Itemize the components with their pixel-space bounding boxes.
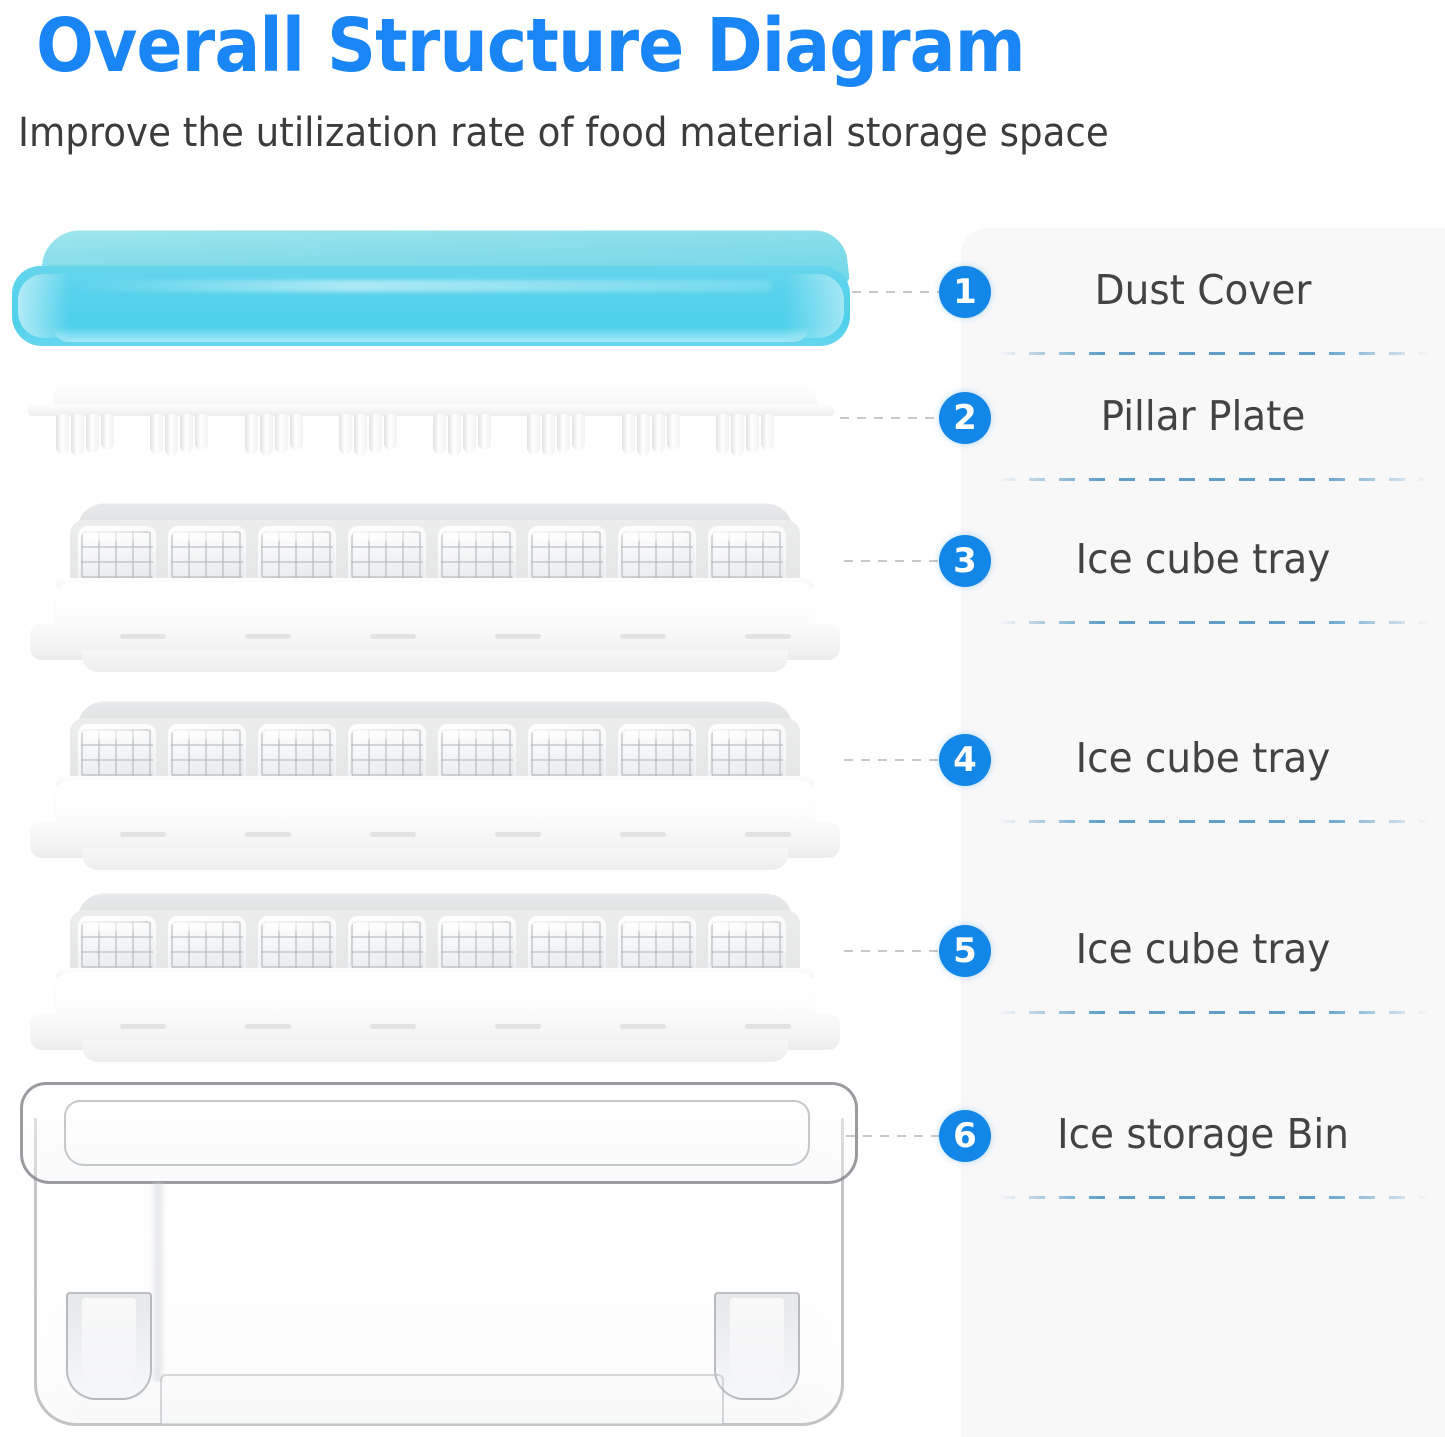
tray-base-notch <box>495 832 541 837</box>
product-exploded-view <box>0 0 961 1437</box>
pillar <box>339 414 352 454</box>
pillar <box>165 414 178 456</box>
dust-cover-front-face <box>12 266 850 346</box>
dust-cover-sheen <box>72 280 772 292</box>
tray-base-notch <box>495 634 541 639</box>
ice-cube-cluster <box>258 724 336 782</box>
leader-line-6 <box>846 1135 954 1137</box>
number-badge-4-icon[interactable]: 4 <box>939 734 991 786</box>
tray-base-notch <box>495 1024 541 1029</box>
bin-grip-right <box>714 1292 800 1400</box>
dust-cover-part <box>12 228 850 348</box>
pillar-group <box>337 414 405 456</box>
pillar-group <box>620 414 688 456</box>
ice-cube-cluster <box>78 724 156 782</box>
leader-line-5 <box>844 950 954 952</box>
ice-cube-cluster <box>708 916 786 974</box>
tray-base-notch <box>370 1024 416 1029</box>
ice-cube-cluster <box>168 916 246 974</box>
tray-base-notch <box>620 832 666 837</box>
bin-floor <box>160 1374 724 1424</box>
pillar-group <box>525 414 593 456</box>
ice-cube-cluster <box>168 724 246 782</box>
legend-label-1: Dust Cover <box>973 266 1433 314</box>
ice-cube-cluster <box>258 526 336 584</box>
legend-divider-1 <box>999 352 1429 355</box>
tray-base-notch <box>745 1024 791 1029</box>
pillar <box>448 414 461 456</box>
legend-label-6: Ice storage Bin <box>973 1110 1433 1158</box>
pillar <box>56 414 69 454</box>
ice-cube-cluster <box>618 526 696 584</box>
pillar <box>260 414 273 456</box>
tray-foot <box>82 650 788 672</box>
pillar <box>290 414 303 450</box>
pillar <box>761 414 774 450</box>
ice-cube-cluster <box>708 526 786 584</box>
pillar <box>101 414 114 450</box>
pillar <box>384 414 397 450</box>
legend-label-2: Pillar Plate <box>973 392 1433 440</box>
ice-cube-cluster <box>438 526 516 584</box>
ice-cube-cluster <box>348 724 426 782</box>
pillar <box>71 414 84 456</box>
dust-cover-right-highlight <box>784 274 844 338</box>
tray-base-notch <box>245 634 291 639</box>
ice-cube-cluster <box>528 916 606 974</box>
pillar <box>245 414 258 454</box>
pillar-group <box>714 414 782 456</box>
tray-base-notch <box>745 634 791 639</box>
ice-cube-cluster <box>258 916 336 974</box>
pillar-group <box>148 414 216 456</box>
tray-base-notch <box>370 832 416 837</box>
ice-cube-cluster <box>78 526 156 584</box>
legend-divider-2 <box>999 478 1429 481</box>
ice-cube-tray-part-2 <box>30 696 840 871</box>
pillar <box>652 414 665 453</box>
tray-cavity <box>70 910 800 976</box>
ice-cube-cluster <box>348 916 426 974</box>
tray-cavity <box>70 520 800 586</box>
leader-line-2 <box>840 417 954 419</box>
tray-foot <box>82 1040 788 1062</box>
ice-cube-cluster <box>708 724 786 782</box>
pillar-group <box>243 414 311 456</box>
pillar <box>731 414 744 456</box>
leader-line-3 <box>844 560 954 562</box>
legend-label-3: Ice cube tray <box>973 535 1433 583</box>
ice-cube-cluster <box>348 526 426 584</box>
ice-cube-cluster <box>618 916 696 974</box>
pillar-group <box>54 414 122 456</box>
number-badge-3-icon[interactable]: 3 <box>939 535 991 587</box>
number-badge-6-icon[interactable]: 6 <box>939 1110 991 1162</box>
ice-cube-cluster <box>438 916 516 974</box>
tray-base-notch <box>120 832 166 837</box>
pillar <box>637 414 650 456</box>
pillar-group <box>431 414 499 456</box>
ice-cube-cluster <box>528 724 606 782</box>
dust-cover-left-highlight <box>18 274 70 338</box>
ice-cube-cluster <box>438 724 516 782</box>
pillar <box>557 414 570 453</box>
bin-grip-left <box>66 1292 152 1400</box>
ice-cube-cluster <box>528 526 606 584</box>
number-badge-5-icon[interactable]: 5 <box>939 925 991 977</box>
pillar <box>746 414 759 453</box>
pillar <box>527 414 540 454</box>
pillar <box>622 414 635 454</box>
pillar <box>433 414 446 454</box>
tray-cavity <box>70 718 800 784</box>
pillar-plate-part <box>28 378 834 456</box>
bin-wall-highlight <box>150 1182 166 1382</box>
pillar <box>572 414 585 450</box>
tray-base-notch <box>620 634 666 639</box>
pillar <box>478 414 491 450</box>
ice-cube-cluster <box>78 916 156 974</box>
tray-base-notch <box>120 634 166 639</box>
pillar <box>150 414 163 454</box>
ice-cube-tray-part-3 <box>30 888 840 1063</box>
pillar <box>86 414 99 453</box>
pillar <box>369 414 382 453</box>
legend-label-4: Ice cube tray <box>973 734 1433 782</box>
legend-divider-3 <box>999 621 1429 624</box>
tray-foot <box>82 848 788 870</box>
ice-cube-cluster <box>618 724 696 782</box>
ice-cube-tray-part-1 <box>30 498 840 673</box>
pillar <box>354 414 367 456</box>
pillar <box>667 414 680 450</box>
ice-storage-bin-part <box>20 1082 852 1427</box>
pillar <box>542 414 555 456</box>
tray-base-notch <box>745 832 791 837</box>
number-badge-1-icon[interactable]: 1 <box>939 266 991 318</box>
pillar <box>195 414 208 450</box>
ice-cube-cluster <box>168 526 246 584</box>
tray-base-notch <box>245 832 291 837</box>
leader-line-4 <box>844 759 954 761</box>
legend-panel: Dust Cover Pillar Plate Ice cube tray Ic… <box>961 228 1445 1437</box>
legend-divider-4 <box>999 820 1429 823</box>
tray-base-notch <box>370 634 416 639</box>
pillar <box>463 414 476 453</box>
pillar <box>275 414 288 453</box>
pillar <box>716 414 729 454</box>
number-badge-2-icon[interactable]: 2 <box>939 392 991 444</box>
pillar <box>180 414 193 453</box>
legend-divider-5 <box>999 1011 1429 1014</box>
legend-label-5: Ice cube tray <box>973 925 1433 973</box>
tray-base-notch <box>120 1024 166 1029</box>
tray-base-notch <box>245 1024 291 1029</box>
bin-rim-inner <box>64 1100 810 1166</box>
tray-base-notch <box>620 1024 666 1029</box>
legend-divider-6 <box>999 1196 1429 1199</box>
